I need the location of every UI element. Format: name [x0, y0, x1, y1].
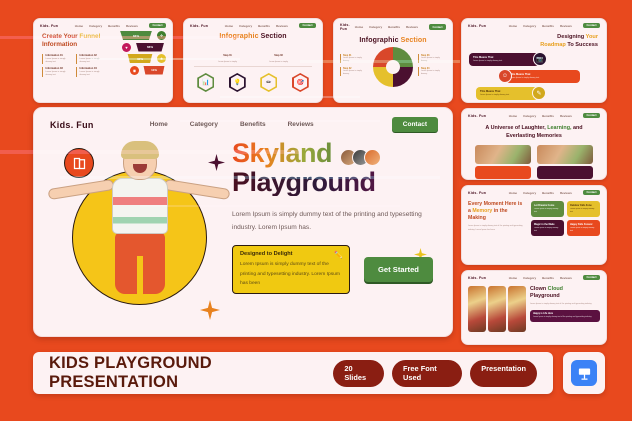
clown-highlight-box[interactable]: Happy is Life Here Lorem Ipsum is simply…: [530, 310, 600, 322]
pie-chart: [373, 47, 413, 87]
slide-nav-item[interactable]: Benefits: [388, 25, 400, 29]
photo-placeholder: [468, 286, 486, 332]
roadmap-card[interactable]: This Means That Lorem Ipsum is simply du…: [476, 87, 538, 100]
pencil-icon: ✏️: [334, 251, 343, 259]
slide-contact-button[interactable]: Contact: [583, 23, 600, 28]
moment-title: Every Moment Here is a Memory in the Mak…: [468, 201, 526, 222]
title-b: Cloud: [548, 286, 563, 292]
hero-logo: Kids. Fun: [50, 120, 94, 130]
sparkle-icon: [200, 300, 220, 320]
hero-nav-links: Home Category Benefits Reviews: [150, 121, 314, 128]
card-body: Lorem Ipsum is simply dummy text: [534, 227, 561, 233]
kid-arm-right: [164, 179, 231, 200]
photo-placeholder: [537, 145, 593, 164]
pie-body: Lorem Ipsum is simply dummy: [343, 70, 368, 76]
hex-label: Step 01: [223, 54, 232, 57]
target-icon: 🎯: [294, 75, 308, 91]
caption-card[interactable]: [537, 166, 593, 179]
photo-placeholder: [488, 286, 506, 332]
pie-body: Lorem Ipsum is simply dummy: [421, 70, 446, 76]
card-body: Lorem Ipsum is simply dummy text: [534, 208, 561, 214]
moment-card[interactable]: Magic in the Made Lorem Ipsum is simply …: [531, 220, 564, 236]
slide-nav-item[interactable]: Category: [369, 25, 382, 29]
info-body: Lorem Ipsum is simply dummy text: [80, 58, 107, 64]
card-body: Lorem Ipsum is simply dummy text: [570, 208, 597, 214]
pie-body: Lorem Ipsum is simply dummy: [421, 57, 446, 63]
slide-nav-item[interactable]: Home: [225, 24, 233, 28]
hero-content: Skyland Playground Lorem Ipsum is simply…: [232, 140, 442, 294]
slide-nav: Kids. Fun Home Category Benefits Reviews…: [462, 109, 606, 120]
hero-nav-item-home[interactable]: Home: [150, 121, 168, 128]
sparkle-icon: [208, 154, 225, 171]
plus-icon: ✛: [157, 31, 166, 40]
kid-shirt: [112, 178, 168, 234]
hero-nav-item-benefits[interactable]: Benefits: [240, 121, 266, 128]
funnel-info-grid: Information 01 Lorem Ipsum is simply dum…: [34, 49, 112, 77]
funnel-info-box: Information 03 Lorem Ipsum is simply dum…: [42, 67, 72, 77]
slide-nav-item[interactable]: Reviews: [560, 276, 572, 280]
moment-cards: Let Dreams Come Lorem Ipsum is simply du…: [531, 201, 600, 236]
title-a: Designing: [557, 34, 586, 40]
slide-contact-button[interactable]: Contact: [149, 23, 166, 28]
slide-contact-button[interactable]: Contact: [583, 190, 600, 195]
designed-to-delight-card[interactable]: Designed to Delight Lorem Ipsum is simpl…: [232, 245, 350, 294]
pie-chart-area: Step 01Lorem Ipsum is simply dummy Step …: [334, 44, 452, 87]
caption-card[interactable]: [475, 166, 531, 179]
box-body: Lorem Ipsum is simply dummy text of the …: [533, 316, 597, 319]
slide-thumbnail-hexagon[interactable]: Kids. Fun Home Category Benefits Reviews…: [183, 18, 323, 103]
slide-nav-item[interactable]: Reviews: [560, 114, 572, 118]
chart-icon: ◉: [130, 66, 139, 75]
clown-text: Clown CloudPlayground Lorem Ipsum is sim…: [530, 286, 600, 332]
footer-badges: 20 Slides Free Font Used Presentation: [333, 360, 537, 387]
hex-label: Step 03: [274, 54, 283, 57]
title-d: To Success: [566, 42, 598, 48]
funnel-title-highlight: Funnel: [79, 33, 100, 40]
slide-logo: Kids. Fun: [468, 24, 486, 28]
slide-nav: Kids. Fun Home Category Benefits Reviews…: [462, 271, 606, 282]
roadmap-row-2: ☺ This Means That Lorem Ipsum is simply …: [462, 69, 606, 83]
card-title: Magic in the Made: [534, 223, 561, 226]
hex-item-1[interactable]: 📊: [197, 73, 214, 92]
pie-notes-right: Step 03Lorem Ipsum is simply dummy Step …: [418, 54, 446, 79]
roadmap-row-1: This Means That Lorem Ipsum is simply du…: [462, 52, 606, 66]
title-a: A Universe of Laughter,: [485, 125, 547, 131]
card-title: This Means That: [510, 73, 576, 76]
slide-nav: Kids. Fun Home Category Benefits Reviews…: [462, 19, 606, 30]
hex-item-3[interactable]: ✏: [260, 73, 277, 92]
moment-card[interactable]: Happy Kids Forever Lorem Ipsum is simply…: [567, 220, 600, 236]
hex-bottom-captions: Step 02Lorem Ipsum is simply Step 04Lore…: [184, 92, 322, 103]
badge-presentation: Presentation: [470, 360, 537, 387]
roadmap-row-3: This Means That Lorem Ipsum is simply du…: [462, 86, 606, 100]
moment-card[interactable]: Outdoor Kids Zone Lorem Ipsum is simply …: [567, 201, 600, 217]
slide-contact-button[interactable]: Contact: [299, 23, 316, 28]
slide-thumbnail-clown[interactable]: Kids. Fun Home Category Benefits Reviews…: [461, 270, 607, 345]
app-format-box[interactable]: [563, 352, 605, 394]
card-title: Happy Kids Forever: [570, 223, 597, 226]
funnel-step-value: 11%: [142, 66, 166, 75]
clown-title: Clown CloudPlayground: [530, 286, 600, 300]
contact-button[interactable]: Contact: [392, 117, 438, 132]
hex-body: Lorem Ipsum is simply: [215, 61, 241, 64]
card-title: Outdoor Kids Zone: [570, 204, 597, 207]
slide-contact-button[interactable]: Contact: [583, 113, 600, 118]
funnel-chart: 84% ✛ ♥ 66% 32% ★ ◉ 11%: [110, 31, 166, 77]
hero-nav-item-category[interactable]: Category: [190, 121, 218, 128]
kid-photo: [96, 144, 184, 322]
slide-thumbnail-pie[interactable]: Kids. Fun Home Category Benefits Reviews…: [333, 18, 453, 103]
slide-nav: Kids. Fun Home Category Benefits Reviews…: [34, 19, 172, 30]
info-body: Lorem Ipsum is simply dummy text: [80, 71, 107, 77]
title-part1: Infographic: [219, 33, 260, 40]
card-title: Designed to Delight: [240, 251, 342, 257]
moment-text: Every Moment Here is a Memory in the Mak…: [468, 201, 526, 236]
photo-placeholder: [508, 286, 526, 332]
slide-thumbnail-funnel[interactable]: Kids. Fun Home Category Benefits Reviews…: [33, 18, 173, 103]
title-part2: Section: [261, 33, 287, 40]
slide-logo: Kids. Fun: [340, 23, 350, 31]
title-b: Learning,: [547, 125, 571, 131]
title-a: Clown: [530, 286, 548, 292]
slide-nav-item[interactable]: Reviews: [276, 24, 288, 28]
funnel-step-value: 84%: [118, 31, 154, 40]
hero-title-line2: Playground: [232, 168, 442, 196]
presentation-icon: [571, 360, 597, 386]
bulb-icon: 💡: [231, 75, 245, 91]
slide-nav-item[interactable]: Home: [509, 24, 517, 28]
roadmap-title: Designing Your Roadmap To Success: [462, 30, 606, 49]
title-part2: Section: [401, 37, 427, 44]
hex-item-4[interactable]: 🎯: [292, 73, 309, 92]
title-c: Roadmap: [540, 42, 566, 48]
book-icon: [64, 148, 94, 178]
clown-layout: Clown CloudPlayground Lorem Ipsum is sim…: [462, 282, 606, 332]
moment-layout: Every Moment Here is a Memory in the Mak…: [462, 197, 606, 236]
slide-nav-item[interactable]: Category: [523, 191, 536, 195]
hex-body: Lorem Ipsum is simply: [266, 61, 292, 64]
slide-nav-item[interactable]: Reviews: [560, 24, 572, 28]
badge-free-font: Free Font Used: [392, 360, 462, 387]
slide-nav-item[interactable]: Benefits: [108, 24, 120, 28]
moment-body: Lorem Ipsum is simply dummy text of the …: [468, 225, 526, 231]
slide-nav-item[interactable]: Home: [75, 24, 83, 28]
funnel-step-value: 32%: [126, 54, 154, 63]
title-part1: Infographic: [359, 37, 400, 44]
slide-nav: Kids. Fun Home Category Benefits Reviews…: [462, 186, 606, 197]
slide-nav-item[interactable]: Home: [509, 114, 517, 118]
slide-logo: Kids. Fun: [40, 24, 58, 28]
star-icon: ★: [157, 54, 166, 63]
kid-arm-left: [48, 179, 115, 200]
hero-title-row: Skyland: [232, 140, 442, 168]
slide-nav-item[interactable]: Category: [523, 276, 536, 280]
slide-nav-item[interactable]: Benefits: [542, 191, 554, 195]
slide-nav-item[interactable]: Home: [355, 25, 363, 29]
universe-column: [475, 145, 531, 179]
slide-logo: Kids. Fun: [468, 191, 486, 195]
poster-stage: Kids. Fun Home Category Benefits Reviews…: [0, 0, 632, 421]
card-title: This Means That: [480, 90, 534, 93]
slide-nav-item[interactable]: Benefits: [542, 276, 554, 280]
badge-slide-count: 20 Slides: [333, 360, 384, 387]
slide-nav-item[interactable]: Reviews: [560, 191, 572, 195]
divider: [194, 66, 312, 67]
slide-nav-item[interactable]: Category: [89, 24, 102, 28]
slide-nav-item[interactable]: Benefits: [542, 114, 554, 118]
card-body: Lorem Ipsum is simply dummy text of the …: [240, 260, 342, 288]
funnel-step: ◉ 11%: [110, 66, 166, 75]
slide-nav-item[interactable]: Category: [523, 114, 536, 118]
funnel-step: 32% ★: [110, 54, 166, 63]
hero-cta-row: Designed to Delight Lorem Ipsum is simpl…: [232, 245, 442, 294]
slide-nav-item[interactable]: Home: [509, 276, 517, 280]
funnel-title-part1: Create Your: [42, 33, 79, 40]
slide-nav: Kids. Fun Home Category Benefits Reviews…: [334, 19, 452, 33]
camera-icon: 📷: [533, 52, 547, 66]
heart-icon: ♥: [122, 43, 131, 52]
card-title: This Means That: [473, 56, 535, 59]
slide-nav-item[interactable]: Home: [509, 191, 517, 195]
hero-slide[interactable]: Kids. Fun Home Category Benefits Reviews…: [33, 107, 453, 337]
slide-title: Infographic Section: [334, 37, 452, 44]
edit-icon: ✎: [532, 86, 546, 100]
hero-description: Lorem Ipsum is simply dummy text of the …: [232, 208, 442, 234]
title-c: Playground: [530, 293, 560, 299]
slide-thumbnail-universe[interactable]: Kids. Fun Home Category Benefits Reviews…: [461, 108, 607, 180]
slide-nav-item[interactable]: Benefits: [258, 24, 270, 28]
hex-item-2[interactable]: 💡: [229, 73, 246, 92]
box-title: Happy is Life Here: [533, 313, 597, 315]
pie-notes-left: Step 01Lorem Ipsum is simply dummy Step …: [340, 54, 368, 79]
hero-body: Skyland Playground Lorem Ipsum is simply…: [34, 132, 452, 322]
universe-column: [537, 145, 593, 179]
avatar-group: [345, 149, 381, 166]
photo-placeholder: [475, 145, 531, 164]
kid-hair: [121, 141, 159, 159]
hero-navbar: Kids. Fun Home Category Benefits Reviews…: [34, 108, 452, 132]
info-body: Lorem Ipsum is simply dummy text: [46, 71, 73, 77]
slide-nav: Kids. Fun Home Category Benefits Reviews…: [184, 19, 322, 30]
hex-top-captions: Step 01Lorem Ipsum is simply Step 03Lore…: [184, 40, 322, 64]
slide-title: Infographic Section: [184, 33, 322, 40]
slide-nav-item[interactable]: Reviews: [126, 24, 138, 28]
pie-body: Lorem Ipsum is simply dummy: [343, 57, 368, 63]
roadmap-card[interactable]: This Means That Lorem Ipsum is simply du…: [506, 70, 580, 83]
card-body: Lorem Ipsum is simply dummy text: [510, 77, 576, 80]
funnel-step-value: 66%: [134, 43, 166, 52]
info-title: Information 01: [46, 54, 73, 57]
title-b: Memory: [472, 208, 492, 214]
card-body: Lorem Ipsum is simply dummy text: [570, 227, 597, 233]
funnel-step: ♥ 66%: [110, 43, 166, 52]
slide-contact-button[interactable]: Contact: [429, 24, 446, 29]
funnel-info-box: Information 01 Lorem Ipsum is simply dum…: [42, 54, 72, 64]
info-body: Lorem Ipsum is simply dummy text: [46, 58, 73, 64]
slide-contact-button[interactable]: Contact: [583, 275, 600, 280]
slide-logo: Kids. Fun: [468, 114, 486, 118]
hero-title-line1: Skyland: [232, 140, 332, 168]
funnel-step: 84% ✛: [110, 31, 166, 40]
slide-nav-item[interactable]: Category: [523, 24, 536, 28]
slide-logo: Kids. Fun: [190, 24, 208, 28]
footer-bar: KIDS PLAYGROUND PRESENTATION 20 Slides F…: [33, 352, 553, 394]
card-body: Lorem Ipsum is simply dummy text: [480, 94, 534, 97]
hero-nav-item-reviews[interactable]: Reviews: [288, 121, 314, 128]
info-title: Information 02: [80, 54, 107, 57]
universe-images: [462, 141, 606, 179]
kid-leg-gap: [137, 256, 143, 294]
slide-nav-item[interactable]: Reviews: [406, 25, 418, 29]
universe-title: A Universe of Laughter, Learning, and Ev…: [462, 120, 606, 140]
get-started-button[interactable]: Get Started: [364, 257, 433, 282]
avatar: [364, 149, 381, 166]
title-b: Your: [586, 34, 598, 40]
clown-body: Lorem Ipsum is simply dummy text of the …: [530, 303, 600, 306]
info-title: Information 04: [80, 67, 107, 70]
page-title: KIDS PLAYGROUND PRESENTATION: [49, 354, 333, 392]
slide-thumbnail-roadmap[interactable]: Kids. Fun Home Category Benefits Reviews…: [461, 18, 607, 103]
roadmap-card[interactable]: This Means That Lorem Ipsum is simply du…: [469, 53, 539, 66]
moment-card[interactable]: Let Dreams Come Lorem Ipsum is simply du…: [531, 201, 564, 217]
slide-thumbnail-moment[interactable]: Kids. Fun Home Category Benefits Reviews…: [461, 185, 607, 265]
pencil-icon: ✏: [262, 75, 276, 91]
card-body: Lorem Ipsum is simply dummy text: [473, 60, 535, 63]
clown-gallery: [468, 286, 526, 332]
slide-nav-item[interactable]: Category: [239, 24, 252, 28]
funnel-info-box: Information 04 Lorem Ipsum is simply dum…: [76, 67, 106, 77]
funnel-info-box: Information 02 Lorem Ipsum is simply dum…: [76, 54, 106, 64]
slide-logo: Kids. Fun: [468, 276, 486, 280]
info-title: Information 03: [46, 67, 73, 70]
card-title: Let Dreams Come: [534, 204, 561, 207]
chart-icon: 📊: [199, 75, 213, 91]
hex-row: 📊 💡 ✏ 🎯: [184, 69, 322, 92]
slide-nav-item[interactable]: Benefits: [542, 24, 554, 28]
